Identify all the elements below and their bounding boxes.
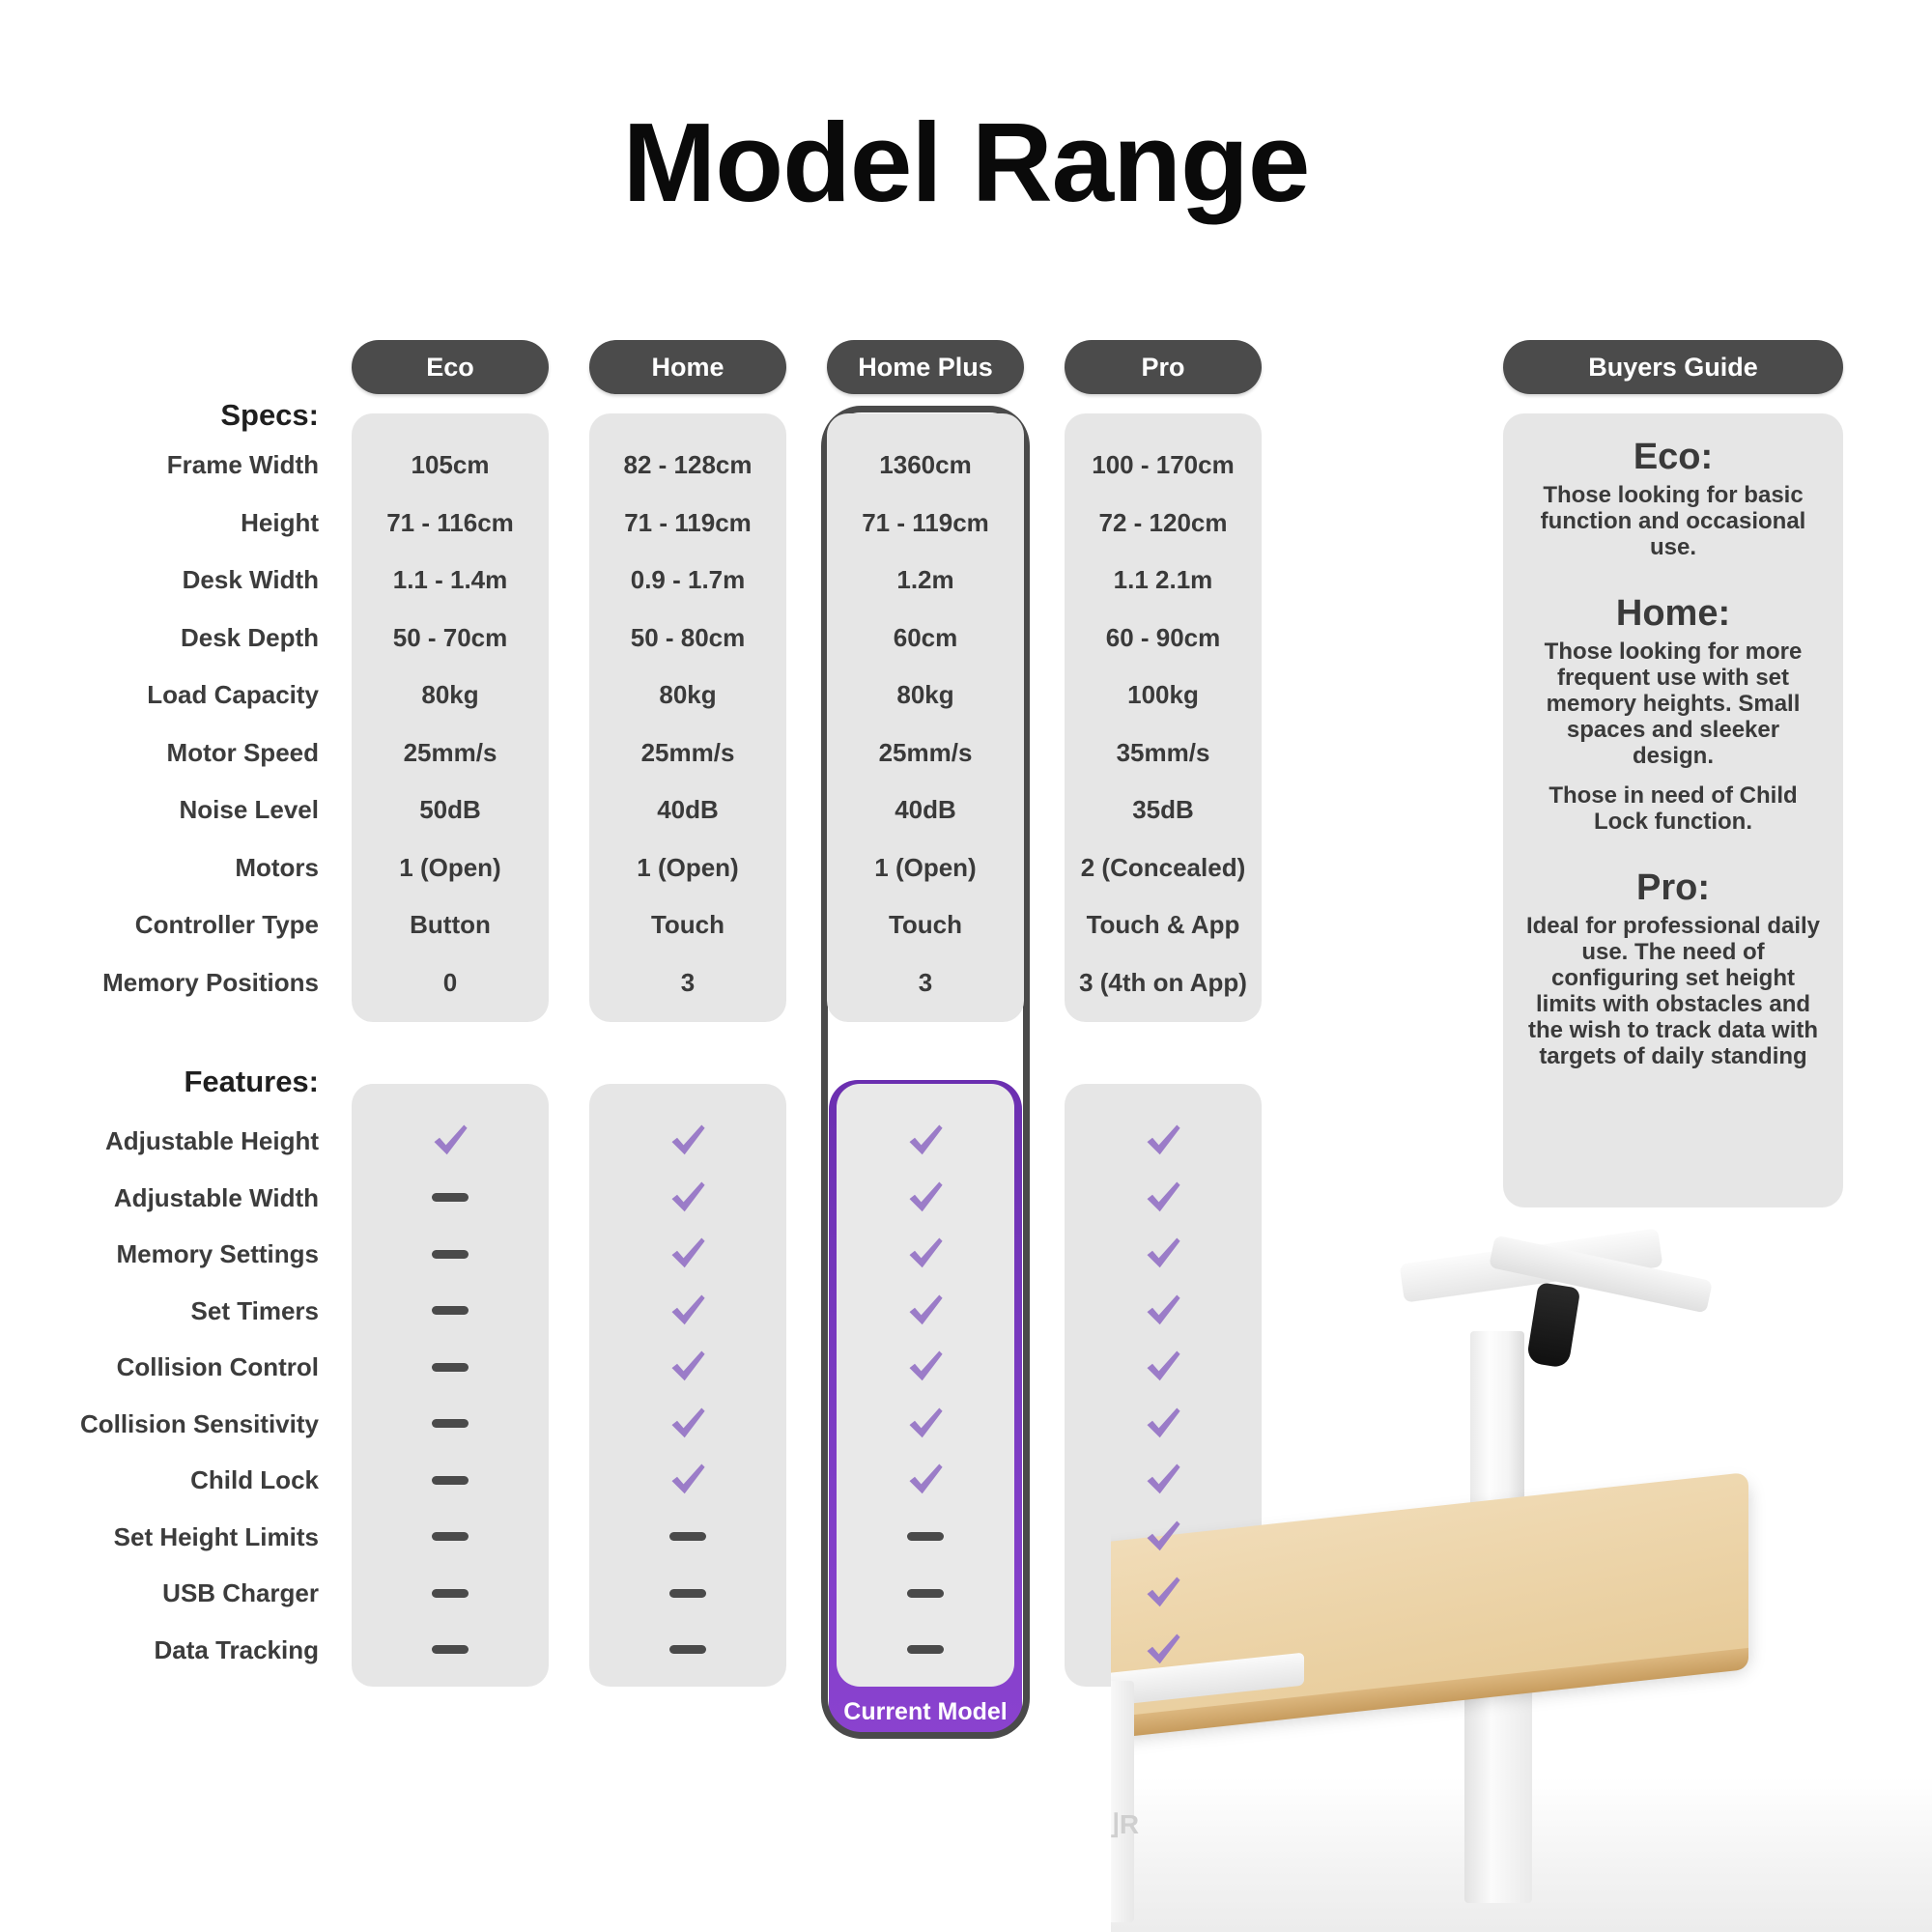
feature-dash-icon-home bbox=[589, 1628, 786, 1672]
spec-cell-pro: 1.1 2.1m bbox=[1065, 565, 1262, 595]
dash-glyph bbox=[432, 1193, 469, 1202]
dash-glyph bbox=[669, 1645, 706, 1654]
column-header-home-label: Home bbox=[651, 353, 724, 383]
dash-glyph bbox=[432, 1476, 469, 1485]
spec-cell-eco: 1 (Open) bbox=[352, 853, 549, 883]
feature-check-icon-pro bbox=[1065, 1176, 1262, 1220]
dash-glyph bbox=[432, 1419, 469, 1428]
spec-cell-eco: 105cm bbox=[352, 450, 549, 480]
spec-cell-eco: 50 - 70cm bbox=[352, 623, 549, 653]
spec-cell-home: 1 (Open) bbox=[589, 853, 786, 883]
spec-row-label: Noise Level bbox=[0, 795, 319, 825]
feature-dash-icon-eco bbox=[352, 1515, 549, 1559]
feature-check-icon-home bbox=[589, 1176, 786, 1220]
feature-check-icon-plus bbox=[827, 1119, 1024, 1163]
spec-cell-plus: Touch bbox=[827, 910, 1024, 940]
feature-check-icon-pro bbox=[1065, 1232, 1262, 1276]
spec-row-label: Height bbox=[0, 508, 319, 538]
spec-cell-eco: Button bbox=[352, 910, 549, 940]
spec-cell-plus: 1.2m bbox=[827, 565, 1024, 595]
feature-check-icon-eco bbox=[352, 1119, 549, 1163]
feature-check-icon-plus bbox=[827, 1176, 1024, 1220]
feature-check-icon-home bbox=[589, 1458, 786, 1502]
spec-cell-plus: 40dB bbox=[827, 795, 1024, 825]
dash-glyph bbox=[669, 1589, 706, 1598]
feature-check-icon-home bbox=[589, 1232, 786, 1276]
dash-glyph bbox=[432, 1532, 469, 1541]
spec-cell-plus: 80kg bbox=[827, 680, 1024, 710]
buyers-guide-content: Eco:Those looking for basic function and… bbox=[1524, 437, 1822, 1102]
feature-row-label: Memory Settings bbox=[0, 1239, 319, 1269]
spec-cell-home: 40dB bbox=[589, 795, 786, 825]
feature-dash-icon-eco bbox=[352, 1402, 549, 1446]
feature-dash-icon-eco bbox=[352, 1628, 549, 1672]
feature-check-icon-plus bbox=[827, 1232, 1024, 1276]
feature-check-icon-home bbox=[589, 1345, 786, 1389]
spec-cell-pro: Touch & App bbox=[1065, 910, 1262, 940]
spec-cell-home: 71 - 119cm bbox=[589, 508, 786, 538]
buyers-guide-paragraph: Those in need of Child Lock function. bbox=[1524, 782, 1822, 835]
feature-check-icon-pro bbox=[1065, 1289, 1262, 1333]
feature-check-icon-pro bbox=[1065, 1628, 1262, 1672]
buyers-guide-heading: Home: bbox=[1524, 593, 1822, 635]
feature-row-label: Set Height Limits bbox=[0, 1522, 319, 1552]
spec-row-label: Desk Depth bbox=[0, 623, 319, 653]
dash-glyph bbox=[907, 1589, 944, 1598]
dash-glyph bbox=[432, 1250, 469, 1259]
buyers-guide-paragraph: Those looking for more frequent use with… bbox=[1524, 639, 1822, 769]
spec-cell-eco: 80kg bbox=[352, 680, 549, 710]
feature-dash-icon-eco bbox=[352, 1345, 549, 1389]
dash-glyph bbox=[669, 1532, 706, 1541]
feature-check-icon-pro bbox=[1065, 1345, 1262, 1389]
feature-dash-icon-plus bbox=[827, 1628, 1024, 1672]
spec-row-label: Motors bbox=[0, 853, 319, 883]
feature-row-label: Set Timers bbox=[0, 1296, 319, 1326]
spec-cell-plus: 1 (Open) bbox=[827, 853, 1024, 883]
feature-dash-icon-eco bbox=[352, 1571, 549, 1615]
spec-cell-eco: 71 - 116cm bbox=[352, 508, 549, 538]
feature-check-icon-plus bbox=[827, 1458, 1024, 1502]
feature-check-icon-pro bbox=[1065, 1515, 1262, 1559]
column-header-home-plus-label: Home Plus bbox=[858, 353, 993, 383]
buyers-guide-paragraph: Ideal for professional daily use. The ne… bbox=[1524, 913, 1822, 1069]
column-header-eco-label: Eco bbox=[426, 353, 474, 383]
spec-cell-eco: 1.1 - 1.4m bbox=[352, 565, 549, 595]
feature-dash-icon-plus bbox=[827, 1571, 1024, 1615]
spec-row-label: Motor Speed bbox=[0, 738, 319, 768]
feature-dash-icon-eco bbox=[352, 1232, 549, 1276]
spec-cell-home: 50 - 80cm bbox=[589, 623, 786, 653]
feature-row-label: Collision Sensitivity bbox=[0, 1409, 319, 1439]
feature-row-label: USB Charger bbox=[0, 1578, 319, 1608]
spec-cell-pro: 3 (4th on App) bbox=[1065, 968, 1262, 998]
feature-dash-icon-eco bbox=[352, 1176, 549, 1220]
page-title: Model Range bbox=[0, 106, 1932, 218]
buyers-guide-header-label: Buyers Guide bbox=[1588, 353, 1758, 383]
feature-row-label: Collision Control bbox=[0, 1352, 319, 1382]
feature-check-icon-plus bbox=[827, 1402, 1024, 1446]
feature-check-icon-pro bbox=[1065, 1402, 1262, 1446]
feature-dash-icon-home bbox=[589, 1571, 786, 1615]
feature-row-label: Adjustable Height bbox=[0, 1126, 319, 1156]
feature-check-icon-pro bbox=[1065, 1571, 1262, 1615]
spec-cell-pro: 60 - 90cm bbox=[1065, 623, 1262, 653]
features-section-label: Features: bbox=[0, 1065, 319, 1099]
spec-cell-plus: 1360cm bbox=[827, 450, 1024, 480]
feature-check-icon-plus bbox=[827, 1289, 1024, 1333]
spec-cell-home: 82 - 128cm bbox=[589, 450, 786, 480]
spec-cell-home: Touch bbox=[589, 910, 786, 940]
buyers-guide-heading: Eco: bbox=[1524, 437, 1822, 478]
feature-check-icon-pro bbox=[1065, 1458, 1262, 1502]
feature-check-icon-pro bbox=[1065, 1119, 1262, 1163]
feature-dash-icon-eco bbox=[352, 1289, 549, 1333]
desk-leg-left bbox=[1111, 1681, 1134, 1922]
desk-motor-right bbox=[1526, 1282, 1581, 1369]
spec-cell-home: 3 bbox=[589, 968, 786, 998]
feature-row-label: Data Tracking bbox=[0, 1635, 319, 1665]
spec-row-label: Memory Positions bbox=[0, 968, 319, 998]
spec-cell-plus: 3 bbox=[827, 968, 1024, 998]
spec-cell-eco: 0 bbox=[352, 968, 549, 998]
feature-check-icon-home bbox=[589, 1289, 786, 1333]
spec-cell-home: 0.9 - 1.7m bbox=[589, 565, 786, 595]
feature-row-label: Child Lock bbox=[0, 1465, 319, 1495]
spec-cell-pro: 2 (Concealed) bbox=[1065, 853, 1262, 883]
buyers-guide-heading: Pro: bbox=[1524, 867, 1822, 909]
feature-dash-icon-eco bbox=[352, 1458, 549, 1502]
feature-row-label: Adjustable Width bbox=[0, 1183, 319, 1213]
spec-cell-home: 80kg bbox=[589, 680, 786, 710]
feature-dash-icon-home bbox=[589, 1515, 786, 1559]
spec-cell-pro: 100 - 170cm bbox=[1065, 450, 1262, 480]
feature-dash-icon-plus bbox=[827, 1515, 1024, 1559]
spec-cell-plus: 60cm bbox=[827, 623, 1024, 653]
feature-check-icon-home bbox=[589, 1402, 786, 1446]
feature-check-icon-home bbox=[589, 1119, 786, 1163]
spec-cell-eco: 50dB bbox=[352, 795, 549, 825]
spec-row-label: Frame Width bbox=[0, 450, 319, 480]
frame-brand-logo-icon-2: ⌋R bbox=[1111, 1808, 1139, 1840]
buyers-guide-header-pill[interactable]: Buyers Guide bbox=[1503, 340, 1843, 394]
dash-glyph bbox=[432, 1589, 469, 1598]
feature-check-icon-plus bbox=[827, 1345, 1024, 1389]
buyers-guide-paragraph: Those looking for basic function and occ… bbox=[1524, 482, 1822, 560]
spec-cell-pro: 72 - 120cm bbox=[1065, 508, 1262, 538]
dash-glyph bbox=[432, 1306, 469, 1315]
column-header-eco[interactable]: Eco bbox=[352, 340, 549, 394]
dash-glyph bbox=[432, 1645, 469, 1654]
spec-cell-pro: 100kg bbox=[1065, 680, 1262, 710]
spec-cell-pro: 35dB bbox=[1065, 795, 1262, 825]
current-model-badge: Current Model bbox=[829, 1687, 1022, 1737]
dash-glyph bbox=[432, 1363, 469, 1372]
column-header-home-plus[interactable]: Home Plus bbox=[827, 340, 1024, 394]
dash-glyph bbox=[907, 1645, 944, 1654]
spec-cell-plus: 25mm/s bbox=[827, 738, 1024, 768]
spec-cell-pro: 35mm/s bbox=[1065, 738, 1262, 768]
spec-cell-home: 25mm/s bbox=[589, 738, 786, 768]
spec-row-label: Load Capacity bbox=[0, 680, 319, 710]
spec-row-label: Controller Type bbox=[0, 910, 319, 940]
spec-cell-plus: 71 - 119cm bbox=[827, 508, 1024, 538]
column-header-pro-label: Pro bbox=[1141, 353, 1184, 383]
column-header-home[interactable]: Home bbox=[589, 340, 786, 394]
spec-cell-eco: 25mm/s bbox=[352, 738, 549, 768]
spec-row-label: Desk Width bbox=[0, 565, 319, 595]
column-header-pro[interactable]: Pro bbox=[1065, 340, 1262, 394]
specs-section-label: Specs: bbox=[0, 398, 319, 433]
dash-glyph bbox=[907, 1532, 944, 1541]
